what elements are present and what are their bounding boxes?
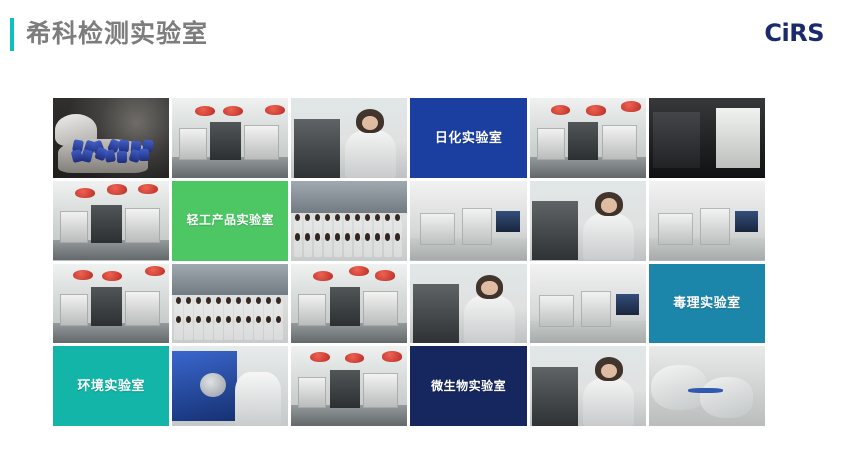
lab-category-tile-r2c2[interactable]: 轻工产品实验室 xyxy=(172,181,288,261)
lab-category-label: 微生物实验室 xyxy=(427,379,510,394)
lab-category-tile-r3c6[interactable]: 毒理实验室 xyxy=(649,264,765,344)
lab-photo-tile-r3c3[interactable] xyxy=(291,264,407,344)
lab-photo xyxy=(53,98,169,178)
lab-category-label: 轻工产品实验室 xyxy=(182,213,278,228)
lab-photo-tile-r3c1[interactable] xyxy=(53,264,169,344)
lab-photo xyxy=(410,181,526,261)
lab-photo-grid: 日化实验室轻工产品实验室毒理实验室环境实验室微生物实验室 xyxy=(53,98,765,426)
lab-photo xyxy=(649,98,765,178)
lab-photo-tile-r2c6[interactable] xyxy=(649,181,765,261)
lab-photo-tile-r1c2[interactable] xyxy=(172,98,288,178)
lab-photo xyxy=(172,264,288,344)
lab-category-label: 环境实验室 xyxy=(73,378,149,394)
lab-photo xyxy=(649,181,765,261)
lab-photo xyxy=(530,98,646,178)
lab-photo-tile-r4c3[interactable] xyxy=(291,346,407,426)
lab-photo-tile-r2c5[interactable] xyxy=(530,181,646,261)
lab-photo xyxy=(291,98,407,178)
lab-category-label: 日化实验室 xyxy=(431,130,507,146)
lab-photo-tile-r2c1[interactable] xyxy=(53,181,169,261)
lab-photo xyxy=(530,346,646,426)
title-accent-bar xyxy=(10,18,14,51)
lab-category-tile-r4c4[interactable]: 微生物实验室 xyxy=(410,346,526,426)
lab-photo xyxy=(291,264,407,344)
lab-photo xyxy=(410,264,526,344)
lab-photo xyxy=(53,264,169,344)
lab-photo xyxy=(172,98,288,178)
lab-photo-tile-r3c5[interactable] xyxy=(530,264,646,344)
lab-photo xyxy=(172,346,288,426)
cirs-logo: CiRS xyxy=(764,19,824,47)
lab-photo xyxy=(53,181,169,261)
lab-photo-tile-r4c6[interactable] xyxy=(649,346,765,426)
lab-photo xyxy=(291,346,407,426)
lab-photo-tile-r3c4[interactable] xyxy=(410,264,526,344)
lab-photo-tile-r1c3[interactable] xyxy=(291,98,407,178)
slide-root: 希科检测实验室 CiRS 日化实验室轻工产品实验室毒理实验室环境实验室微生物实验… xyxy=(0,0,846,467)
lab-category-tile-r1c4[interactable]: 日化实验室 xyxy=(410,98,526,178)
lab-photo xyxy=(530,264,646,344)
lab-category-tile-r4c1[interactable]: 环境实验室 xyxy=(53,346,169,426)
lab-photo-tile-r4c5[interactable] xyxy=(530,346,646,426)
lab-photo-tile-r1c5[interactable] xyxy=(530,98,646,178)
lab-photo xyxy=(649,346,765,426)
slide-header: 希科检测实验室 CiRS xyxy=(0,0,846,90)
lab-photo-tile-r2c4[interactable] xyxy=(410,181,526,261)
lab-photo-tile-r1c1[interactable] xyxy=(53,98,169,178)
lab-photo-tile-r1c6[interactable] xyxy=(649,98,765,178)
page-title: 希科检测实验室 xyxy=(26,18,208,51)
lab-category-label: 毒理实验室 xyxy=(669,295,745,311)
lab-photo-tile-r2c3[interactable] xyxy=(291,181,407,261)
lab-photo-tile-r4c2[interactable] xyxy=(172,346,288,426)
lab-photo xyxy=(291,181,407,261)
lab-photo xyxy=(530,181,646,261)
lab-photo-tile-r3c2[interactable] xyxy=(172,264,288,344)
